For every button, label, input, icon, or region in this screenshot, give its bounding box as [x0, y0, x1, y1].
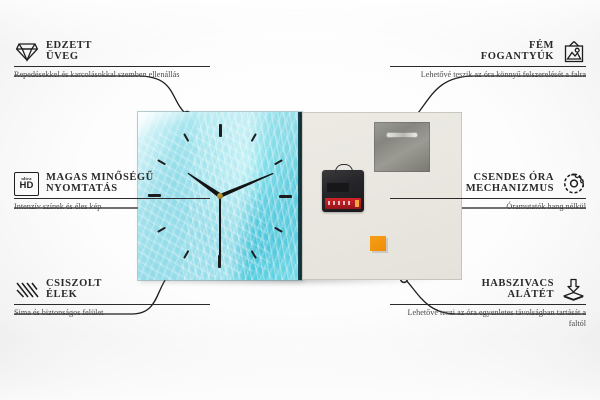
- battery: [325, 198, 361, 209]
- callout-glass-head: EDZETT ÜVEG: [14, 40, 210, 63]
- quartz-clock-mechanism: [322, 170, 364, 212]
- callout-foam-head: HABSZIVACS ALÁTÉT: [390, 278, 586, 301]
- metal-hanger-bracket: [374, 122, 430, 172]
- callout-glass-subtitle: Repedésekkel és karcolásokkal szemben el…: [14, 70, 210, 81]
- callout-glass-title-2: ÜVEG: [46, 52, 92, 63]
- callout-glass-titles: EDZETT ÜVEG: [46, 41, 92, 63]
- foam-pad-arrow-icon: [561, 278, 586, 301]
- callout-mechanism-head: CSENDES ÓRA MECHANIZMUS: [390, 172, 586, 195]
- hour-marker-3: [220, 195, 292, 197]
- callout-foam-titles: HABSZIVACS ALÁTÉT: [482, 279, 554, 301]
- callout-handles-subtitle: Lehetővé teszik az óra könnyű felszerelé…: [390, 70, 586, 81]
- callout-handles-rule: [390, 66, 586, 67]
- callout-mechanism[interactable]: CSENDES ÓRA MECHANIZMUS Óramutatók hang …: [390, 172, 586, 213]
- callout-foam-subtitle: Lehetővé teszi az óra egyenletes távolsá…: [390, 308, 586, 329]
- foam-spacer-pad: [370, 236, 386, 251]
- callout-handles-title-2: FOGANTYÚK: [481, 52, 554, 63]
- mechanism-hook: [335, 164, 353, 174]
- callout-print-title-1: MAGAS MINŐSÉGŰ: [46, 173, 154, 184]
- polished-edges-icon: [14, 278, 39, 301]
- diamond-icon: [14, 40, 39, 63]
- callout-handles-title-1: FÉM: [529, 41, 554, 52]
- callout-edges-subtitle: Sima és biztonságos felület: [14, 308, 210, 319]
- gear-icon: [561, 172, 586, 195]
- hour-marker-12: [219, 124, 221, 196]
- callout-mechanism-title-1: CSENDES ÓRA: [474, 173, 554, 184]
- ultra-hd-icon-large-text: HD: [19, 181, 33, 191]
- callout-glass-title-1: EDZETT: [46, 41, 92, 52]
- picture-hanger-icon: [561, 40, 586, 63]
- callout-handles-titles: FÉM FOGANTYÚK: [481, 41, 554, 63]
- callout-foam-rule: [390, 304, 586, 305]
- ultra-hd-icon: ultra HD: [14, 172, 39, 195]
- infographic-canvas: EDZETT ÜVEG Repedésekkel és karcolásokka…: [0, 0, 600, 400]
- callout-glass[interactable]: EDZETT ÜVEG Repedésekkel és karcolásokka…: [14, 40, 210, 81]
- callout-print-title-2: NYOMTATÁS: [46, 184, 154, 195]
- callout-edges-head: CSISZOLT ÉLEK: [14, 278, 210, 301]
- mechanism-body: [327, 183, 349, 192]
- callout-edges-titles: CSISZOLT ÉLEK: [46, 279, 102, 301]
- callout-edges-title-1: CSISZOLT: [46, 279, 102, 290]
- second-hand: [219, 196, 221, 258]
- callout-edges-rule: [14, 304, 210, 305]
- callout-mechanism-titles: CSENDES ÓRA MECHANIZMUS: [466, 173, 554, 195]
- connector-glass: [14, 76, 186, 114]
- callout-handles[interactable]: FÉM FOGANTYÚK Lehetővé teszik az óra kön…: [390, 40, 586, 81]
- callout-edges[interactable]: CSISZOLT ÉLEK Sima és biztonságos felüle…: [14, 278, 210, 319]
- callout-mechanism-subtitle: Óramutatók hang nélkül: [390, 202, 586, 213]
- callout-print-titles: MAGAS MINŐSÉGŰ NYOMTATÁS: [46, 173, 154, 195]
- callout-foam-title-2: ALÁTÉT: [508, 290, 554, 301]
- callout-mechanism-rule: [390, 198, 586, 199]
- callout-print-rule: [14, 198, 210, 199]
- callout-foam-title-1: HABSZIVACS: [482, 279, 554, 290]
- callout-edges-title-2: ÉLEK: [46, 290, 102, 301]
- callout-mechanism-title-2: MECHANIZMUS: [466, 184, 554, 195]
- callout-handles-head: FÉM FOGANTYÚK: [390, 40, 586, 63]
- callout-print[interactable]: ultra HD MAGAS MINŐSÉGŰ NYOMTATÁS Intenz…: [14, 172, 210, 213]
- callout-glass-rule: [14, 66, 210, 67]
- callout-foam[interactable]: HABSZIVACS ALÁTÉT Lehetővé teszi az óra …: [390, 278, 586, 329]
- clock-center-pin: [217, 193, 223, 199]
- callout-print-head: ultra HD MAGAS MINŐSÉGŰ NYOMTATÁS: [14, 172, 210, 195]
- callout-print-subtitle: Intenzív színek és éles kép: [14, 202, 210, 213]
